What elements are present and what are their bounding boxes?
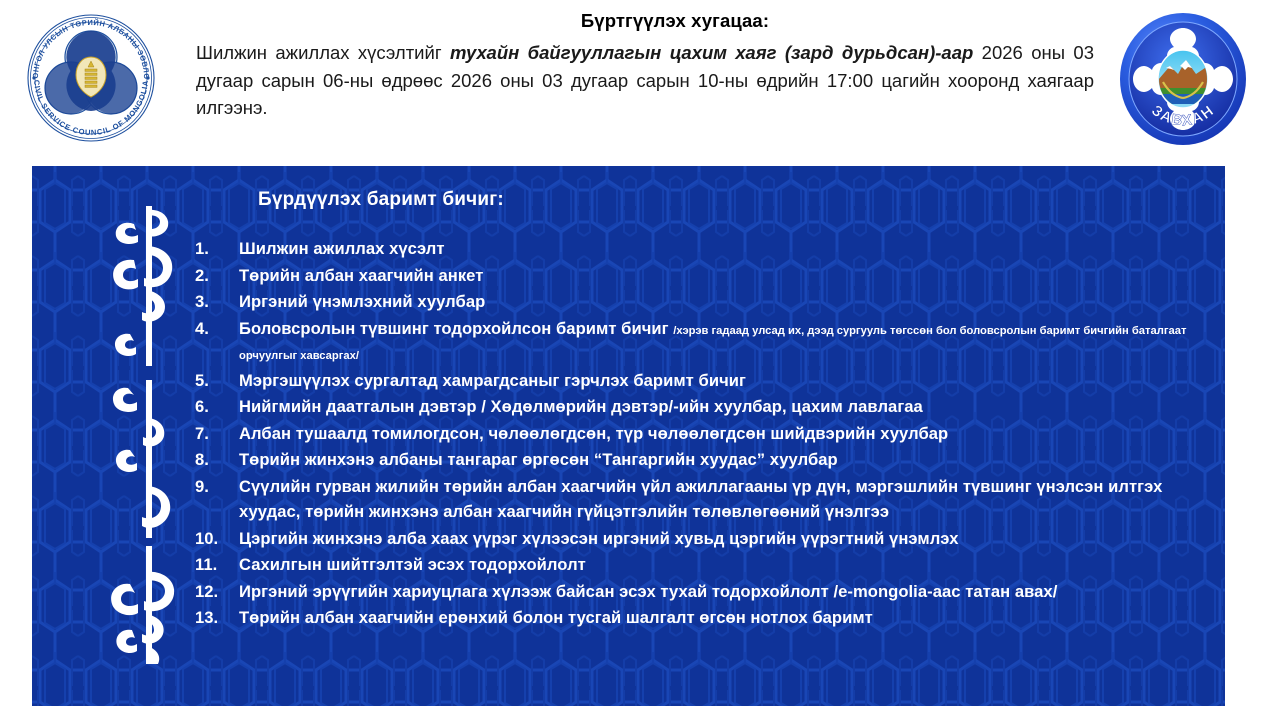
panel-content: Бүрдүүлэх баримт бичиг: 1.Шилжин ажиллах… bbox=[32, 166, 1225, 706]
list-item-text: Сахилгын шийтгэлтэй эсэх тодорхойлолт bbox=[239, 555, 586, 574]
page-header: МОНГОЛ УЛСЫН ТӨРИЙН АЛБАНЫ ЗӨВЛӨЛ CIVIL … bbox=[0, 0, 1280, 166]
list-item-number: 1. bbox=[195, 236, 231, 262]
list-item: 1.Шилжин ажиллах хүсэлт bbox=[195, 236, 1205, 262]
list-item-number: 7. bbox=[195, 421, 231, 447]
panel-heading: Бүрдүүлэх баримт бичиг: bbox=[258, 189, 504, 211]
list-item-number: 13. bbox=[195, 605, 231, 631]
list-item: 11.Сахилгын шийтгэлтэй эсэх тодорхойлолт bbox=[195, 552, 1205, 578]
list-item: 4.Боловсролын түвшинг тодорхойлсон барим… bbox=[195, 316, 1205, 367]
list-item-text: Шилжин ажиллах хүсэлт bbox=[239, 239, 445, 258]
list-item-text: Төрийн жинхэнэ албаны тангараг өргөсөн “… bbox=[239, 450, 838, 469]
list-item: 12.Иргэний эрүүгийн хариуцлага хүлээж ба… bbox=[195, 579, 1205, 605]
list-item-number: 5. bbox=[195, 368, 231, 394]
list-item-number: 9. bbox=[195, 474, 231, 500]
list-item: 2.Төрийн албан хаагчийн анкет bbox=[195, 263, 1205, 289]
header-body-emphasis: тухайн байгууллагын цахим хаяг (зард дур… bbox=[450, 42, 973, 63]
list-item-number: 6. bbox=[195, 394, 231, 420]
list-item-number: 8. bbox=[195, 447, 231, 473]
list-item-text: Төрийн албан хаагчийн ерөнхий болон тусг… bbox=[239, 608, 873, 627]
mongolian-vertical-script bbox=[100, 194, 196, 664]
header-body: Шилжин ажиллах хүсэлтийг тухайн байгуулл… bbox=[196, 39, 1094, 122]
list-item-text: Албан тушаалд томилогдсон, чөлөөлөгдсөн,… bbox=[239, 424, 948, 443]
list-item-text: Нийгмийн даатгалын дэвтэр / Хөдөлмөрийн … bbox=[239, 397, 923, 416]
header-title: Бүртгүүлэх хугацаа: bbox=[196, 10, 1094, 32]
list-item-text: Иргэний үнэмлэхний хуулбар bbox=[239, 292, 485, 311]
list-item-text: Цэргийн жинхэнэ алба хаах үүрэг хүлээсэн… bbox=[239, 529, 959, 548]
list-item-number: 11. bbox=[195, 552, 231, 578]
list-item-number: 3. bbox=[195, 289, 231, 315]
documents-list: 1.Шилжин ажиллах хүсэлт 2.Төрийн албан х… bbox=[195, 236, 1205, 632]
list-item-number: 12. bbox=[195, 579, 231, 605]
list-item-number: 2. bbox=[195, 263, 231, 289]
list-item: 9.Сүүлийн гурван жилийн төрийн албан хаа… bbox=[195, 474, 1205, 525]
list-item: 6.Нийгмийн даатгалын дэвтэр / Хөдөлмөрий… bbox=[195, 394, 1205, 420]
list-item: 10.Цэргийн жинхэнэ алба хаах үүрэг хүлээ… bbox=[195, 526, 1205, 552]
list-item: 8.Төрийн жинхэнэ албаны тангараг өргөсөн… bbox=[195, 447, 1205, 473]
documents-panel: Бүрдүүлэх баримт бичиг: 1.Шилжин ажиллах… bbox=[32, 166, 1225, 706]
list-item-text: Сүүлийн гурван жилийн төрийн албан хаагч… bbox=[239, 477, 1162, 522]
list-item-text: Иргэний эрүүгийн хариуцлага хүлээж байса… bbox=[239, 582, 1057, 601]
civil-service-council-logo-svg: МОНГОЛ УЛСЫН ТӨРИЙН АЛБАНЫ ЗӨВЛӨЛ CIVIL … bbox=[18, 5, 164, 151]
list-item-text: Төрийн албан хаагчийн анкет bbox=[239, 266, 483, 285]
header-body-part1: Шилжин ажиллах хүсэлтийг bbox=[196, 42, 450, 63]
header-text-block: Бүртгүүлэх хугацаа: Шилжин ажиллах хүсэл… bbox=[196, 10, 1094, 122]
list-item-text: Боловсролын түвшинг тодорхойлсон баримт … bbox=[239, 319, 669, 338]
list-item-text: Мэргэшүүлэх сургалтад хамрагдсаныг гэрчл… bbox=[239, 371, 746, 390]
list-item-number: 4. bbox=[195, 316, 231, 342]
zavkhan-emblem-svg: ЗАВХАН bbox=[1112, 8, 1254, 150]
list-item: 3.Иргэний үнэмлэхний хуулбар bbox=[195, 289, 1205, 315]
mongolian-script-svg bbox=[100, 194, 196, 664]
zavkhan-province-emblem: ЗАВХАН bbox=[1112, 8, 1254, 150]
list-item: 7.Албан тушаалд томилогдсон, чөлөөлөгдсө… bbox=[195, 421, 1205, 447]
civil-service-council-logo: МОНГОЛ УЛСЫН ТӨРИЙН АЛБАНЫ ЗӨВЛӨЛ CIVIL … bbox=[18, 5, 164, 151]
list-item-number: 10. bbox=[195, 526, 231, 552]
list-item: 5. Мэргэшүүлэх сургалтад хамрагдсаныг гэ… bbox=[195, 368, 1205, 394]
list-item: 13.Төрийн албан хаагчийн ерөнхий болон т… bbox=[195, 605, 1205, 631]
